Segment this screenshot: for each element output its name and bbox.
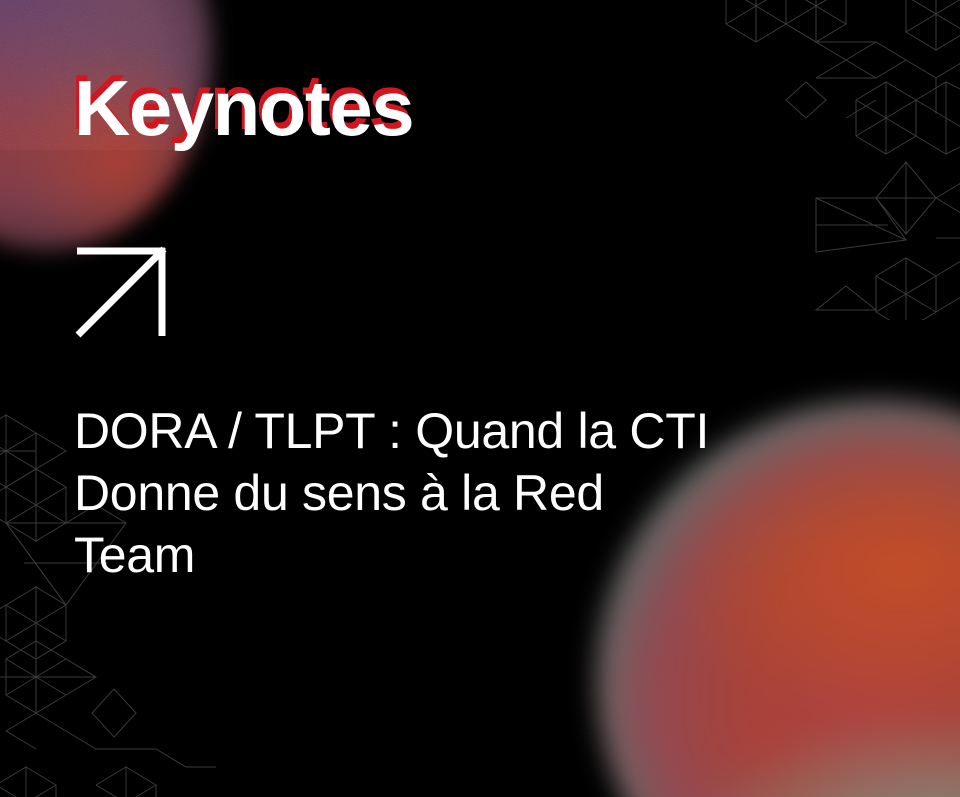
arrow-up-right-icon	[74, 244, 174, 344]
geometric-lattice-top-right	[718, 0, 960, 320]
eyebrow-keynotes: Keynotes Keynotes	[74, 58, 594, 163]
keynote-slide: Keynotes Keynotes DORA / TLPT : Quand la…	[0, 0, 960, 797]
eyebrow-label: Keynotes	[74, 58, 413, 158]
talk-title: DORA / TLPT : Quand la CTI Donne du sens…	[74, 400, 734, 586]
